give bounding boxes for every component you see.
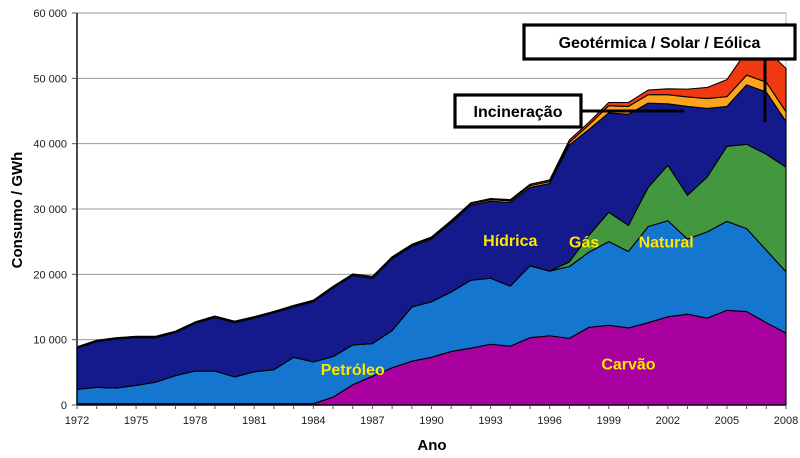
y-tick-label-30000: 30 000 [33,204,67,216]
x-tick-label-1978: 1978 [183,415,207,427]
x-tick-label-2005: 2005 [715,415,739,427]
series-label-petr-leo: Petróleo [321,362,385,379]
y-tick-label-0: 0 [61,400,67,412]
y-tick-label-60000: 60 000 [33,8,67,20]
callout-label-1: Geotérmica / Solar / Eólica [559,35,761,52]
x-tick-label-1987: 1987 [360,415,384,427]
x-tick-label-1990: 1990 [419,415,443,427]
series-label-gas-natural-2: Natural [639,235,694,252]
series-label-gas-natural-1: Gás [569,235,599,252]
x-axis-title: Ano [417,437,446,454]
x-tick-label-1984: 1984 [301,415,325,427]
callout-label-2: Incineração [474,104,563,121]
x-tick-label-1975: 1975 [124,415,148,427]
chart-canvas: 010 00020 00030 00040 00050 00060 000 19… [0,0,800,458]
x-tick-label-1993: 1993 [478,415,502,427]
y-axis-title: Consumo / GWh [9,152,26,269]
series-label-h-drica: Hídrica [483,233,537,250]
x-tick-label-1996: 1996 [537,415,561,427]
x-tick-label-2002: 2002 [656,415,680,427]
x-tick-label-1972: 1972 [65,415,89,427]
y-tick-label-40000: 40 000 [33,139,67,151]
series-label-carv-o: Carvão [601,357,655,374]
stacked-area-chart: 010 00020 00030 00040 00050 00060 000 19… [0,0,800,458]
x-tick-label-1981: 1981 [242,415,266,427]
y-tick-label-20000: 20 000 [33,269,67,281]
y-tick-label-50000: 50 000 [33,73,67,85]
x-tick-label-2008: 2008 [774,415,798,427]
y-tick-label-10000: 10 000 [33,335,67,347]
x-tick-label-1999: 1999 [597,415,621,427]
